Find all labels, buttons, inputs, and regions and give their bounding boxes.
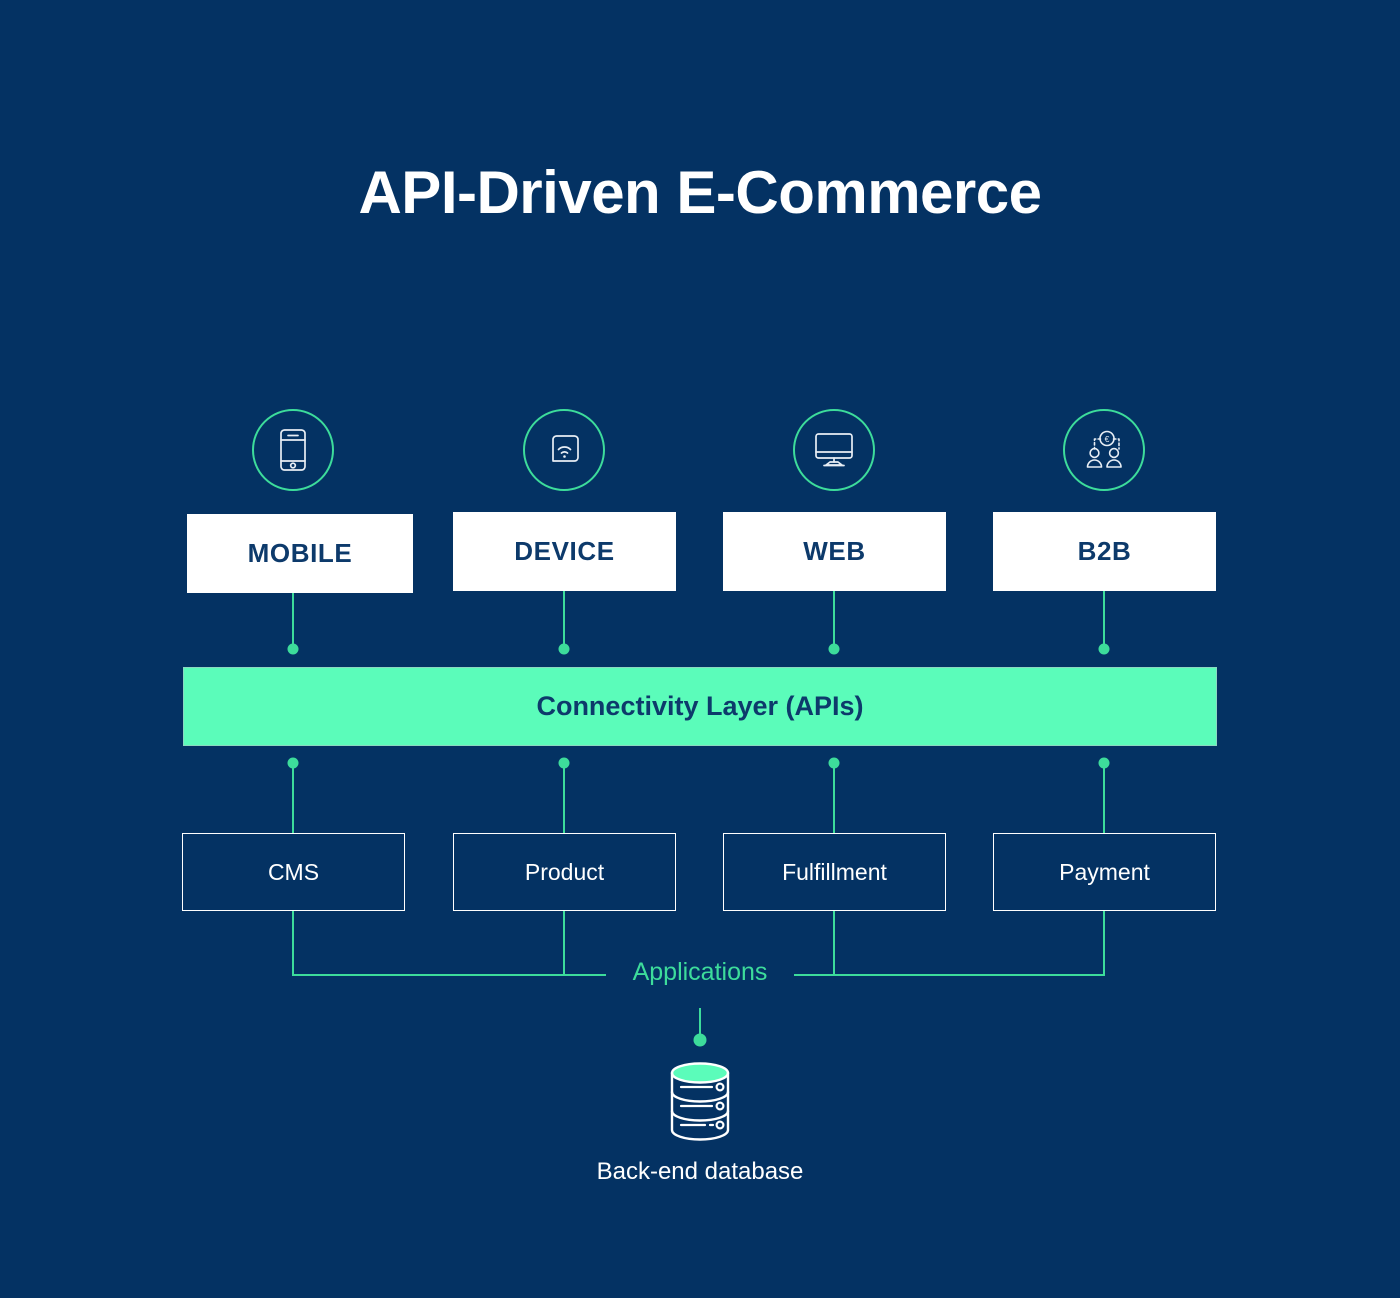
applications-group-label: Applications xyxy=(600,958,800,987)
app-box-payment[interactable]: Payment xyxy=(993,833,1216,911)
app-box-fulfillment[interactable]: Fulfillment xyxy=(723,833,946,911)
channel-label-mobile: MOBILE xyxy=(248,538,353,569)
database-label: Back-end database xyxy=(500,1158,900,1186)
channel-icon-circle-b2b: € xyxy=(1063,409,1145,491)
app-label-payment: Payment xyxy=(1059,859,1150,886)
channel-box-device[interactable]: DEVICE xyxy=(453,512,676,591)
channel-box-mobile[interactable]: MOBILE xyxy=(187,514,413,593)
desktop-monitor-icon xyxy=(812,431,856,469)
channel-icon-circle-mobile xyxy=(252,409,334,491)
channel-label-device: DEVICE xyxy=(514,536,614,567)
app-label-cms: CMS xyxy=(268,859,319,886)
channel-box-b2b[interactable]: B2B xyxy=(993,512,1216,591)
channel-icon-circle-web xyxy=(793,409,875,491)
app-box-product[interactable]: Product xyxy=(453,833,676,911)
diagram-canvas: API-Driven E-Commerce xyxy=(0,0,1400,1298)
page-title: API-Driven E-Commerce xyxy=(0,160,1400,226)
wifi-device-icon xyxy=(544,430,584,470)
connectivity-layer-label: Connectivity Layer (APIs) xyxy=(536,691,863,722)
database-cylinder-icon xyxy=(650,1058,750,1150)
connectivity-layer-bar[interactable]: Connectivity Layer (APIs) xyxy=(183,667,1217,746)
app-box-cms[interactable]: CMS xyxy=(182,833,405,911)
channel-box-web[interactable]: WEB xyxy=(723,512,946,591)
smartphone-icon xyxy=(276,428,310,472)
svg-text:€: € xyxy=(1105,434,1110,444)
channel-label-b2b: B2B xyxy=(1078,536,1132,567)
app-label-fulfillment: Fulfillment xyxy=(782,859,887,886)
two-people-euro-icon: € xyxy=(1081,429,1127,471)
app-label-product: Product xyxy=(525,859,604,886)
channel-label-web: WEB xyxy=(803,536,865,567)
channel-icon-circle-device xyxy=(523,409,605,491)
